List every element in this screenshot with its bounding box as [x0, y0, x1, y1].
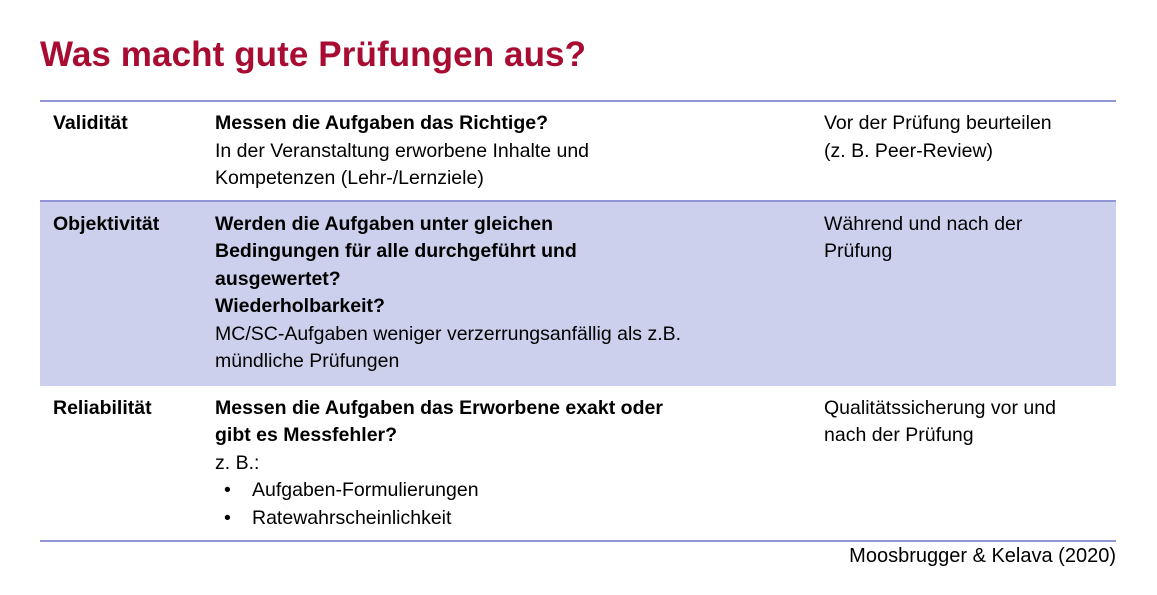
- row-description: Messen die Aufgaben das Erworbene exakt …: [210, 386, 810, 541]
- description-bold-line: ausgewertet?: [215, 266, 800, 294]
- row-term: Validität: [40, 102, 210, 200]
- description-bold-line: Messen die Aufgaben das Richtige?: [215, 110, 800, 138]
- slide: Was macht gute Prüfungen aus? Validität …: [0, 0, 1157, 595]
- description-bold-line: Werden die Aufgaben unter gleichen: [215, 211, 800, 239]
- table-row: Validität Messen die Aufgaben das Richti…: [40, 102, 1116, 200]
- list-item: • Aufgaben-Formulierungen: [215, 477, 800, 505]
- timing-line: Prüfung: [824, 238, 1110, 266]
- description-bullet-list: • Aufgaben-Formulierungen • Ratewahrsche…: [215, 477, 800, 532]
- description-plain-line: z. B.:: [215, 450, 800, 478]
- bullet-icon: •: [224, 505, 231, 533]
- timing-line: Vor der Prüfung beurteilen: [824, 110, 1110, 138]
- description-plain-line: In der Veranstaltung erworbene Inhalte u…: [215, 138, 800, 166]
- row-timing: Vor der Prüfung beurteilen (z. B. Peer-R…: [810, 102, 1116, 200]
- source-citation: Moosbrugger & Kelava (2020): [849, 542, 1116, 570]
- row-term: Reliabilität: [40, 386, 210, 541]
- description-bold-line: Bedingungen für alle durchgeführt und: [215, 238, 800, 266]
- table-row: Objektivität Werden die Aufgaben unter g…: [40, 202, 1116, 386]
- description-bold-line: Messen die Aufgaben das Erworbene exakt …: [215, 395, 800, 423]
- bullet-icon: •: [224, 477, 231, 505]
- row-timing: Qualitätssicherung vor und nach der Prüf…: [810, 386, 1116, 541]
- page-title: Was macht gute Prüfungen aus?: [40, 34, 586, 76]
- description-plain-line: MC/SC-Aufgaben weniger verzerrungsanfäll…: [215, 321, 800, 349]
- list-item-label: Ratewahrscheinlichkeit: [252, 507, 451, 529]
- description-bold-line: Wiederholbarkeit?: [215, 293, 800, 321]
- table-row: Reliabilität Messen die Aufgaben das Erw…: [40, 386, 1116, 541]
- timing-line: (z. B. Peer-Review): [824, 138, 1110, 166]
- list-item-label: Aufgaben-Formulierungen: [252, 479, 479, 501]
- criteria-table: Validität Messen die Aufgaben das Richti…: [40, 100, 1116, 542]
- row-term: Objektivität: [40, 202, 210, 386]
- list-item: • Ratewahrscheinlichkeit: [215, 505, 800, 533]
- row-description: Messen die Aufgaben das Richtige? In der…: [210, 102, 810, 200]
- description-bold-line: gibt es Messfehler?: [215, 422, 800, 450]
- description-plain-line: mündliche Prüfungen: [215, 348, 800, 376]
- row-description: Werden die Aufgaben unter gleichen Bedin…: [210, 202, 810, 386]
- timing-line: Während und nach der: [824, 211, 1110, 239]
- timing-line: Qualitätssicherung vor und: [824, 395, 1110, 423]
- description-plain-line: Kompetenzen (Lehr-/Lernziele): [215, 165, 800, 193]
- timing-line: nach der Prüfung: [824, 422, 1110, 450]
- row-timing: Während und nach der Prüfung: [810, 202, 1116, 386]
